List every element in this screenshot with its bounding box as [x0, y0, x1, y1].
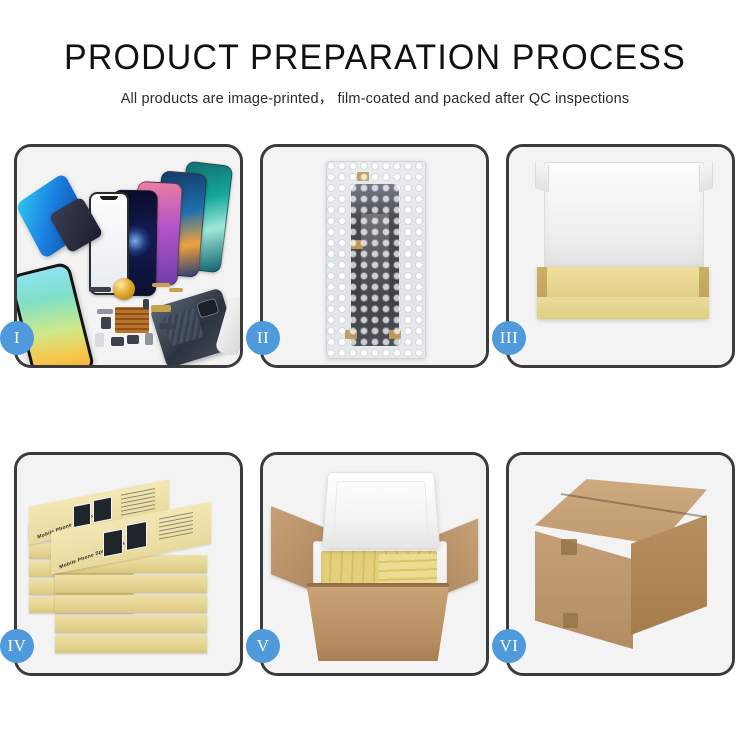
- step-image-5: [263, 455, 486, 673]
- flex-cable-icon: [152, 283, 170, 287]
- box-spec-lines-front: [159, 511, 193, 540]
- step-image-4: Mobile Phone Spare Parts Mobile Phone Sp…: [17, 455, 240, 673]
- bubble-texture-overlay: [327, 162, 425, 358]
- step-panel-1[interactable]: I: [14, 144, 243, 368]
- connector-icon: [143, 299, 149, 309]
- box-lid-icon: [544, 162, 704, 272]
- step-badge-6: VI: [492, 629, 526, 663]
- bubble-wrap-illustration: [263, 147, 486, 365]
- ribbon-cable-icon: [151, 305, 171, 312]
- carton-tape-2-icon: [563, 613, 578, 628]
- page-header: PRODUCT PREPARATION PROCESS All products…: [0, 38, 750, 108]
- page-title: PRODUCT PREPARATION PROCESS: [11, 38, 739, 78]
- box-phone-image-3: [103, 529, 123, 558]
- step-badge-4: IV: [0, 629, 34, 663]
- page-subtitle: All products are image-printed， film-coa…: [0, 87, 750, 108]
- box-phone-image-4: [126, 521, 147, 551]
- box-stack-illustration: Mobile Phone Spare Parts Mobile Phone Sp…: [17, 455, 240, 673]
- part-strip-icon: [89, 287, 111, 292]
- step-image-2: [263, 147, 486, 365]
- sealed-carton-illustration: [509, 455, 732, 673]
- process-steps-grid: I II: [14, 144, 736, 676]
- carton-tape-1-icon: [561, 539, 577, 555]
- step-badge-5: V: [246, 629, 280, 663]
- sim-tray-icon: [95, 333, 104, 347]
- step-image-6: [509, 455, 732, 673]
- carton-left-face: [535, 531, 633, 649]
- phone-parts-illustration: [17, 147, 240, 365]
- screw-set-icon: [145, 333, 153, 345]
- flex-cable-2-icon: [169, 288, 183, 292]
- vibration-motor-icon: [111, 337, 124, 346]
- stack-box-f4: [55, 615, 207, 633]
- stack-box-f5: [55, 635, 207, 653]
- camera-module-icon: [101, 317, 111, 329]
- stack-box-f3: [55, 595, 207, 613]
- step-badge-3: III: [492, 321, 526, 355]
- carton-packing-illustration: [263, 455, 486, 673]
- step-panel-6[interactable]: VI: [506, 452, 735, 676]
- chip-array-icon: [115, 307, 149, 333]
- step-badge-2: II: [246, 321, 280, 355]
- bracket-icon: [97, 309, 113, 314]
- box-spec-lines-back: [121, 487, 155, 516]
- kraft-box-front-icon: [537, 297, 709, 319]
- step-panel-5[interactable]: V: [260, 452, 489, 676]
- step-image-1: [17, 147, 240, 365]
- step-badge-1: I: [0, 321, 34, 355]
- foam-lid-icon: [322, 472, 440, 548]
- button-icon: [127, 335, 139, 344]
- step-image-3: [509, 147, 732, 365]
- box-phone-image-2: [93, 496, 112, 523]
- step-panel-3[interactable]: III: [506, 144, 735, 368]
- open-kraft-box-illustration: [509, 147, 732, 365]
- step-panel-2[interactable]: II: [260, 144, 489, 368]
- step-panel-4[interactable]: Mobile Phone Spare Parts Mobile Phone Sp…: [14, 452, 243, 676]
- stack-box-f2: [55, 575, 207, 593]
- speaker-coil-icon: [113, 278, 135, 300]
- bubble-wrap-bag-icon: [326, 161, 426, 359]
- carton-body-icon: [307, 587, 449, 661]
- antenna-icon: [159, 323, 173, 329]
- phone-notch-icon: [100, 196, 118, 200]
